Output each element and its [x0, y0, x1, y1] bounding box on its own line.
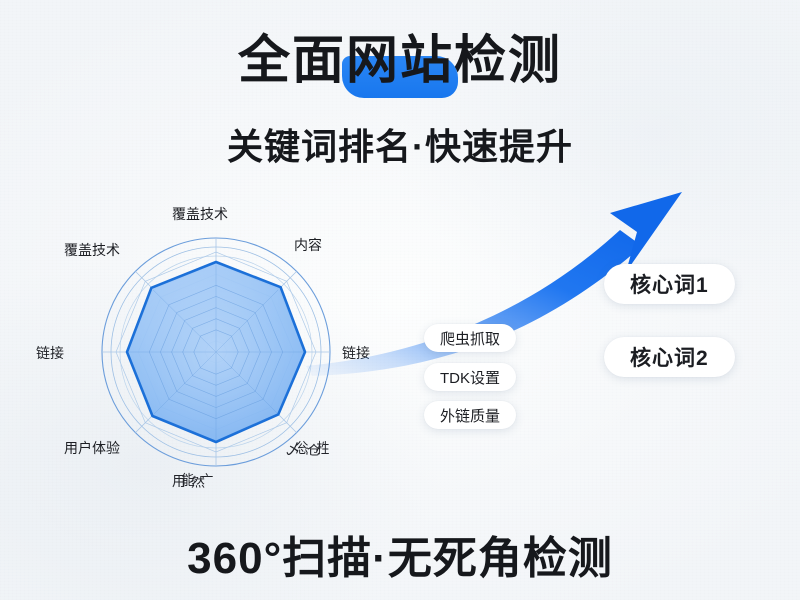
tag-pill-backlink-label: 外链质量: [440, 405, 500, 426]
footer-tagline: 360°扫描·无死角检测: [0, 522, 800, 586]
arrow-head: [610, 192, 682, 272]
radar-label-right: 链接: [342, 343, 370, 363]
tag-pill-backlink[interactable]: 外链质量: [424, 401, 516, 429]
tag-pill-tdk-label: TDK设置: [440, 367, 500, 388]
radar-label-left: 链接: [36, 343, 64, 363]
radar-chart: 覆盖技术 内容 链接 乄忩:仓栍 用能然亠 用户体验 链接 覆盖技术: [20, 190, 420, 520]
radar-label-bottom: 用能然亠: [172, 471, 212, 491]
radar-label-top-left: 覆盖技术: [64, 240, 120, 260]
radar-label-top-right: 内容: [294, 235, 322, 255]
tag-pill-crawl-label: 爬虫抓取: [440, 328, 500, 349]
tag-pill-crawl[interactable]: 爬虫抓取: [424, 324, 516, 352]
keyword-pill-1-label: 核心词1: [630, 269, 709, 299]
keyword-pill-2[interactable]: 核心词2: [604, 337, 735, 377]
radar-label-top: 覆盖技术: [172, 204, 228, 224]
page-subtitle: 关键词排名·快速提升: [0, 118, 800, 170]
tag-pill-tdk[interactable]: TDK设置: [424, 363, 516, 391]
radar-label-bottom-right: 乄忩:仓栍: [286, 439, 328, 459]
keyword-pill-1[interactable]: 核心词1: [604, 264, 735, 304]
page-title-part2: 网站: [346, 32, 454, 90]
keyword-pill-2-label: 核心词2: [630, 342, 709, 372]
title-block: 全面网站检测: [0, 34, 800, 89]
radar-label-bottom-left: 用户体验: [64, 438, 120, 458]
page-title-part3: 检测: [454, 32, 562, 90]
page-title: 全面网站检测: [238, 34, 562, 89]
page-title-part1: 全面: [238, 32, 346, 90]
poster-canvas: 全面网站检测 关键词排名·快速提升: [0, 0, 800, 600]
